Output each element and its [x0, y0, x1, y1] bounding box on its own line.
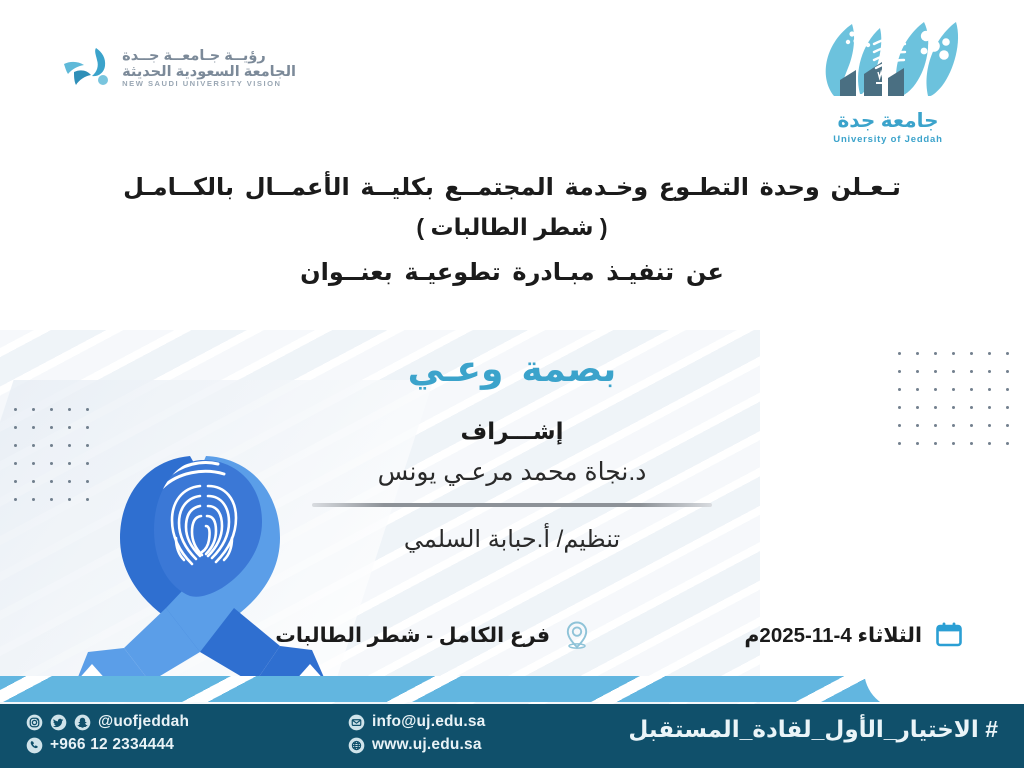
footer-social-handle[interactable]: @uofjeddah — [98, 713, 189, 731]
email-icon[interactable] — [348, 714, 365, 731]
vision-logo-line1: رؤيــة جـامعــة جــدة — [122, 48, 266, 64]
vision-mark-icon — [56, 42, 112, 94]
footer-hashtag: # الاختيار_الأول_لقادة_المستقبل — [628, 716, 998, 743]
footer-email-line: info@uj.edu.sa — [348, 713, 486, 731]
university-logo: 2014 جامعة جدة University of Jeddah — [788, 14, 988, 145]
footer-email[interactable]: info@uj.edu.sa — [372, 713, 486, 731]
event-date: الثلاثاء 4-11-2025م — [744, 618, 966, 652]
footer-phone[interactable]: +966 12 2334444 — [50, 736, 174, 754]
footer-phone-line: +966 12 2334444 — [26, 736, 189, 754]
event-date-text: الثلاثاء 4-11-2025م — [744, 623, 922, 648]
footer-website[interactable]: www.uj.edu.sa — [372, 736, 482, 754]
footer-social-line: @uofjeddah — [26, 713, 189, 731]
twitter-icon[interactable] — [50, 714, 67, 731]
footer-band-cuts — [0, 676, 1000, 702]
globe-icon[interactable] — [348, 737, 365, 754]
vision-logo-text: رؤيــة جـامعــة جــدة الجامعة السعودية ا… — [122, 48, 296, 89]
phone-icon[interactable] — [26, 737, 43, 754]
university-of-jeddah-logo-icon: 2014 — [804, 14, 972, 106]
headline-line-1: تـعـلن وحدة التطـوع وخـدمة المجتمــع بكل… — [0, 176, 1024, 200]
vision-logo: رؤيــة جـامعــة جــدة الجامعة السعودية ا… — [28, 36, 296, 100]
footer-bar: # الاختيار_الأول_لقادة_المستقبل — [0, 704, 1024, 768]
footer-contact-column-1: @uofjeddah +966 12 2334444 — [26, 713, 189, 754]
headline-line-3: عن تنفيـذ مبـادرة تطوعيـة بعنــوان — [0, 261, 1024, 285]
university-name-ar: جامعة جدة — [837, 108, 938, 133]
headline-line-2: ( شطر الطالبات ) — [0, 216, 1024, 239]
vision-logo-line3: NEW SAUDI UNIVERSITY VISION — [122, 80, 281, 89]
vision-logo-line2: الجامعة السعودية الحديثة — [122, 64, 296, 80]
event-place: فرع الكامل - شطر الطالبات — [275, 618, 594, 652]
event-place-text: فرع الكامل - شطر الطالبات — [275, 623, 550, 648]
instagram-icon[interactable] — [26, 714, 43, 731]
footer-band-curve — [864, 676, 1024, 706]
svg-text:2014: 2014 — [945, 82, 956, 88]
event-details-row: الثلاثاء 4-11-2025م فرع الكامل - شطر الط… — [0, 612, 1024, 670]
snapchat-icon[interactable] — [74, 714, 91, 731]
footer-contact-column-2: info@uj.edu.sa www.uj.edu.sa — [348, 713, 486, 754]
headline-block: تـعـلن وحدة التطـوع وخـدمة المجتمــع بكل… — [0, 176, 1024, 285]
location-pin-icon — [560, 618, 594, 652]
initiative-title: بصمة وعـي — [0, 348, 1024, 390]
credits-divider — [312, 503, 712, 507]
university-name-en: University of Jeddah — [833, 134, 942, 145]
footer-accent-band — [0, 676, 1024, 706]
footer-website-line: www.uj.edu.sa — [348, 736, 486, 754]
footer-contacts: @uofjeddah +966 12 2334444 — [0, 704, 620, 768]
calendar-icon — [932, 618, 966, 652]
poster-canvas: رؤيــة جـامعــة جــدة الجامعة السعودية ا… — [0, 0, 1024, 768]
